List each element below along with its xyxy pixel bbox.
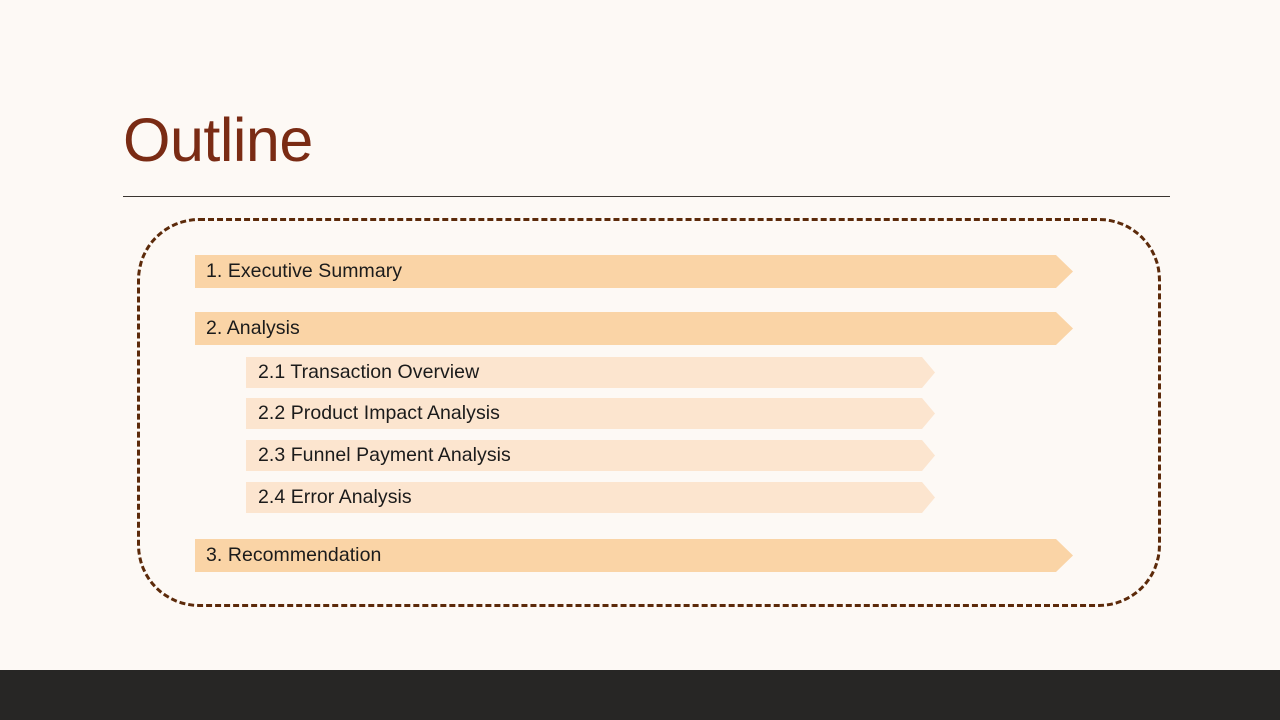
- outline-item-label: 2.2 Product Impact Analysis: [246, 402, 500, 425]
- slide-canvas: Outline 1. Executive Summary 2. Analysis…: [0, 0, 1280, 720]
- outline-item-error-analysis[interactable]: 2.4 Error Analysis: [246, 482, 935, 513]
- footer-band: [0, 670, 1280, 720]
- title-divider: [123, 196, 1170, 197]
- chevron-bar-shape: [195, 312, 1073, 345]
- outline-item-label: 2.1 Transaction Overview: [246, 361, 479, 384]
- outline-item-product-impact-analysis[interactable]: 2.2 Product Impact Analysis: [246, 398, 935, 429]
- page-title: Outline: [123, 104, 313, 176]
- outline-item-label: 2.4 Error Analysis: [246, 486, 412, 509]
- outline-item-recommendation[interactable]: 3. Recommendation: [195, 539, 1073, 572]
- outline-item-transaction-overview[interactable]: 2.1 Transaction Overview: [246, 357, 935, 388]
- outline-item-label: 2.3 Funnel Payment Analysis: [246, 444, 511, 467]
- outline-item-label: 1. Executive Summary: [195, 260, 402, 283]
- outline-item-analysis[interactable]: 2. Analysis: [195, 312, 1073, 345]
- outline-item-label: 2. Analysis: [195, 317, 300, 340]
- outline-item-funnel-payment-analysis[interactable]: 2.3 Funnel Payment Analysis: [246, 440, 935, 471]
- outline-item-executive-summary[interactable]: 1. Executive Summary: [195, 255, 1073, 288]
- outline-item-label: 3. Recommendation: [195, 544, 381, 567]
